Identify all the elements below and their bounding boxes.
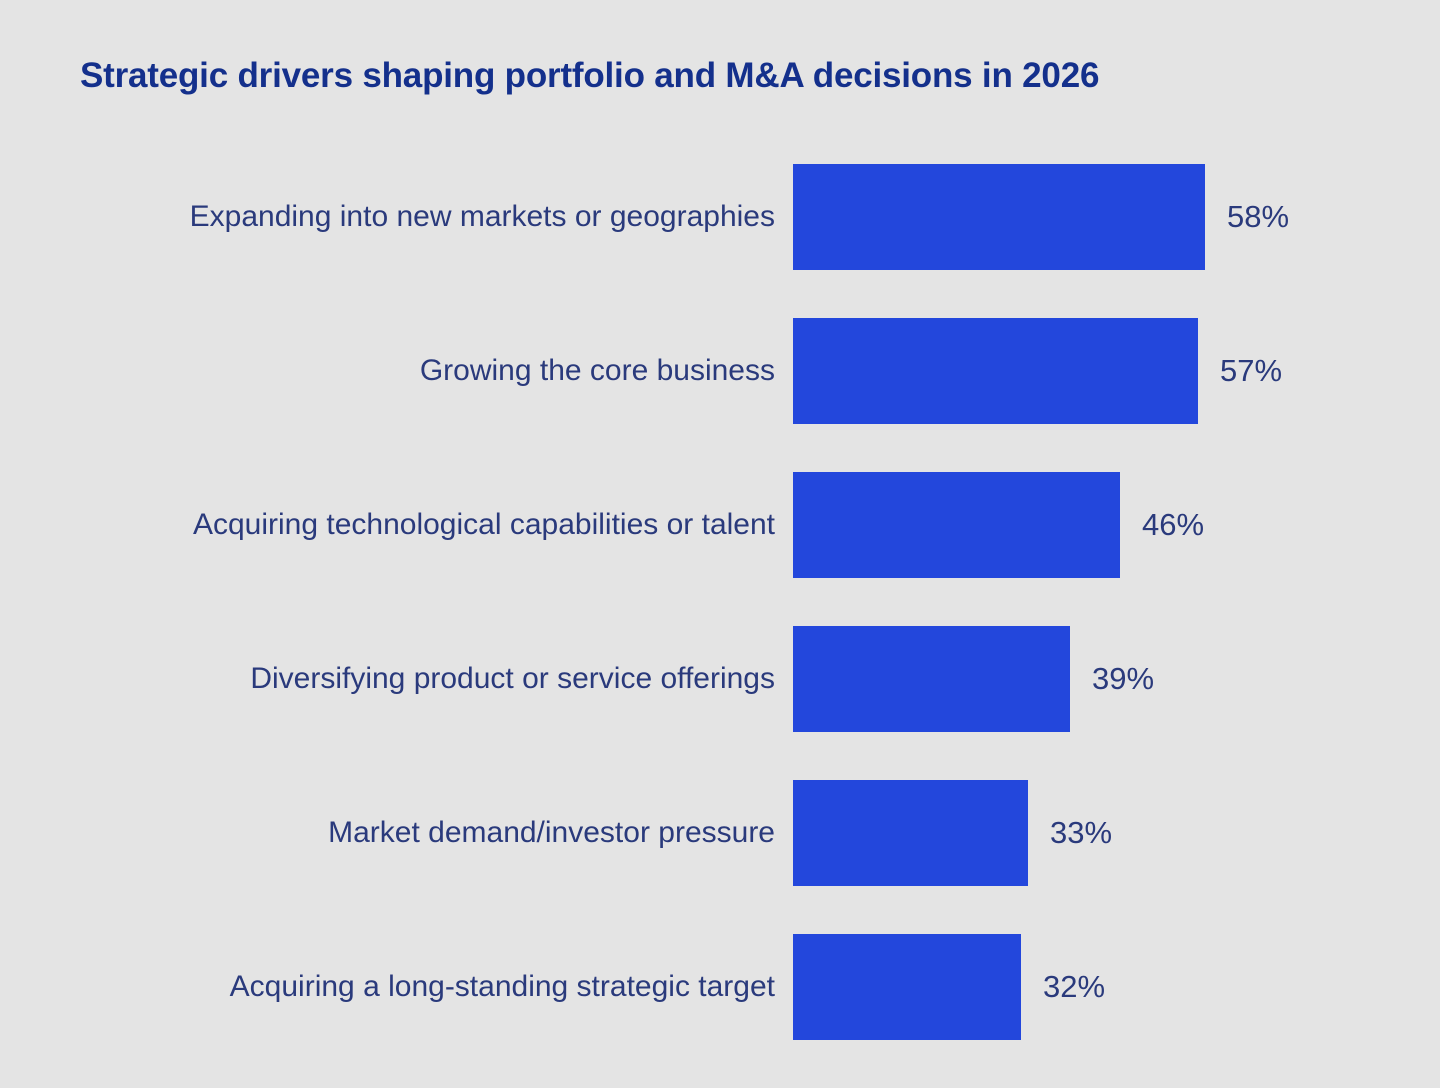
category-label: Growing the core business: [0, 355, 775, 387]
bar-fill-acquiring-technological-capabilities-or-talent: [793, 472, 1120, 578]
chart-title: Strategic drivers shaping portfolio and …: [80, 56, 1380, 96]
bar-row: Acquiring a long-standing strategic targ…: [0, 934, 1440, 1040]
bar-track: 33%: [793, 780, 1440, 886]
category-label: Diversifying product or service offering…: [0, 663, 775, 695]
chart-plot-area: Expanding into new markets or geographie…: [0, 164, 1440, 1044]
bar-value-label: 33%: [1028, 780, 1112, 886]
bar-row: Market demand/investor pressure 33%: [0, 780, 1440, 886]
bar-value-label: 39%: [1070, 626, 1154, 732]
bar-fill-expanding-into-new-markets-or-geographies: [793, 164, 1205, 270]
bar-value-label: 58%: [1205, 164, 1289, 270]
bar-row: Growing the core business 57%: [0, 318, 1440, 424]
bar-track: 58%: [793, 164, 1440, 270]
bar-value-label: 32%: [1021, 934, 1105, 1040]
category-label: Acquiring technological capabilities or …: [0, 509, 775, 541]
bar-row: Diversifying product or service offering…: [0, 626, 1440, 732]
bar-track: 39%: [793, 626, 1440, 732]
bar-row: Acquiring technological capabilities or …: [0, 472, 1440, 578]
bar-track: 46%: [793, 472, 1440, 578]
bar-row: Expanding into new markets or geographie…: [0, 164, 1440, 270]
category-label: Market demand/investor pressure: [0, 817, 775, 849]
bar-track: 57%: [793, 318, 1440, 424]
bar-fill-diversifying-product-or-service-offerings: [793, 626, 1070, 732]
category-label: Acquiring a long-standing strategic targ…: [0, 971, 775, 1003]
bar-fill-acquiring-a-long-standing-strategic-target: [793, 934, 1021, 1040]
bar-chart: Strategic drivers shaping portfolio and …: [0, 0, 1440, 1088]
category-label: Expanding into new markets or geographie…: [0, 201, 775, 233]
bar-track: 32%: [793, 934, 1440, 1040]
bar-value-label: 57%: [1198, 318, 1282, 424]
bar-value-label: 46%: [1120, 472, 1204, 578]
bar-fill-growing-the-core-business: [793, 318, 1198, 424]
bar-fill-market-demand-investor-pressure: [793, 780, 1028, 886]
